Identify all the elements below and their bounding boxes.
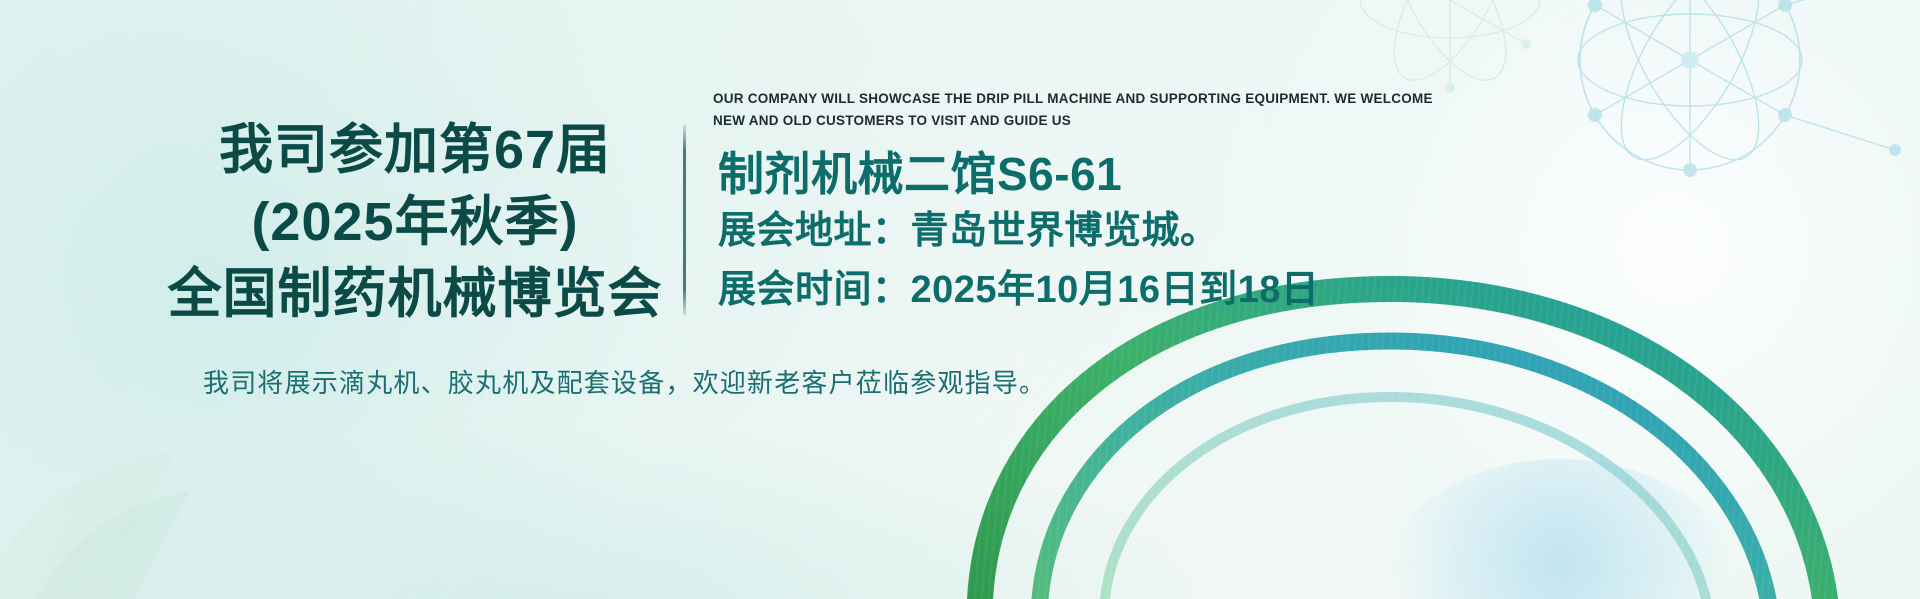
banner-content: 我司参加第67届 (2025年秋季) 全国制药机械博览会 OUR COMPANY… (0, 0, 1920, 599)
english-description: OUR COMPANY WILL SHOWCASE THE DRIP PILL … (713, 88, 1458, 132)
headline-line-1: 我司参加第67届 (150, 115, 680, 187)
event-dates: 展会时间：2025年10月16日到18日 (718, 261, 1319, 320)
exhibition-details: 制剂机械二馆S6-61 展会地址：青岛世界博览城。 展会时间：2025年10月1… (718, 146, 1319, 321)
headline-line-2: (2025年秋季) (150, 187, 680, 259)
venue-address: 展会地址：青岛世界博览城。 (718, 202, 1319, 261)
headline-left: 我司参加第67届 (2025年秋季) 全国制药机械博览会 (150, 115, 680, 330)
vertical-divider (683, 125, 686, 315)
tagline-text: 我司将展示滴丸机、胶丸机及配套设备，欢迎新老客户莅临参观指导。 (203, 363, 1046, 400)
headline-line-3: 全国制药机械博览会 (150, 259, 680, 331)
promo-banner: 我司参加第67届 (2025年秋季) 全国制药机械博览会 OUR COMPANY… (0, 0, 1920, 599)
hall-booth-number: 制剂机械二馆S6-61 (718, 146, 1319, 202)
